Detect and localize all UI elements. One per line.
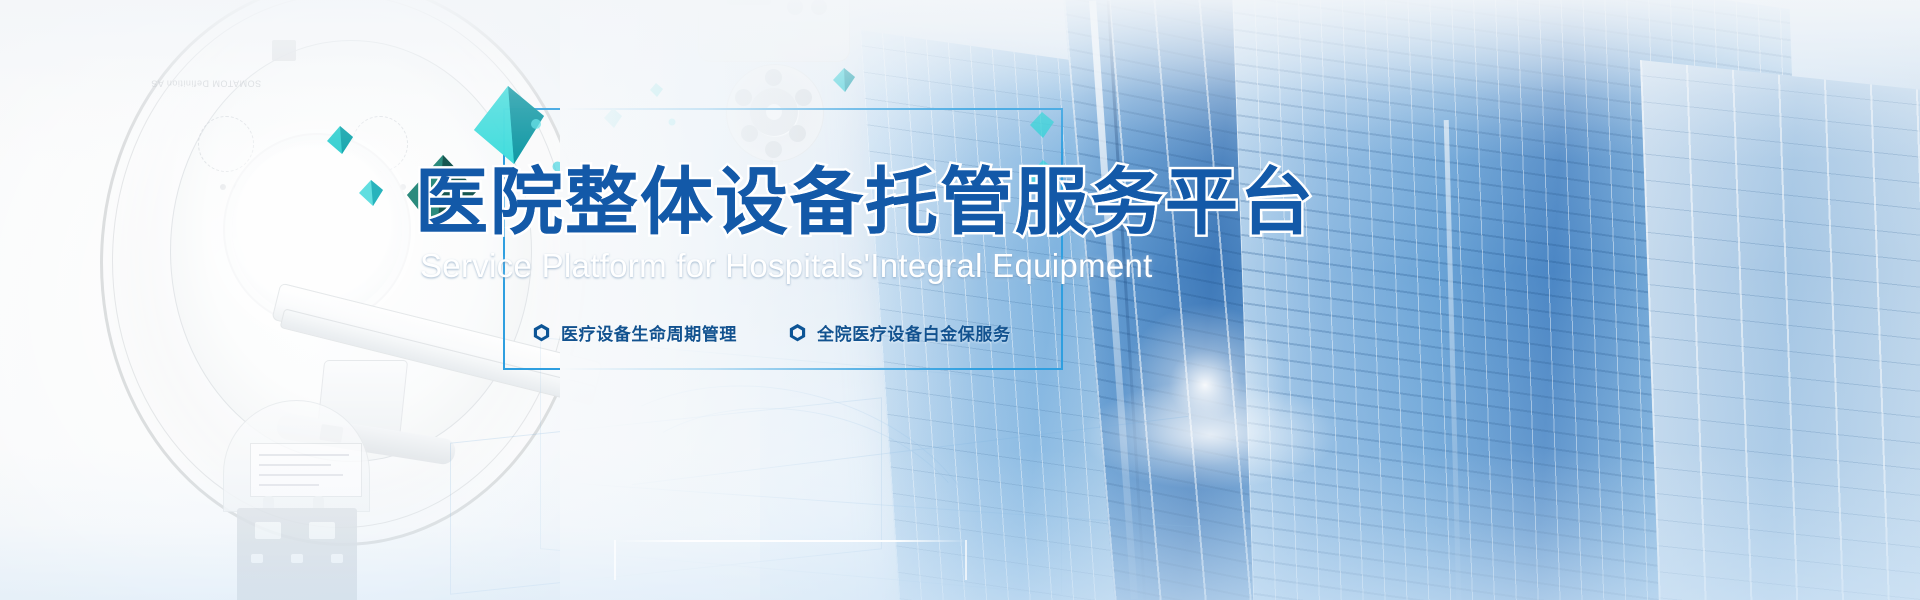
bottom-accent-left-tick — [614, 540, 616, 580]
feature-list: 医疗设备生命周期管理 全院医疗设备白金保服务 — [533, 320, 1011, 345]
hexagon-icon — [789, 323, 806, 342]
feature-item-platinum-service: 全院医疗设备白金保服务 — [789, 320, 1011, 345]
hero-text-block: 医院整体设备托管服务平台 医院整体设备托管服务平台 Service Platfo… — [0, 0, 1920, 600]
bottom-accent-right-tick — [965, 540, 967, 580]
page-title: 医院整体设备托管服务平台 — [415, 166, 1315, 239]
hexagon-icon — [533, 323, 550, 342]
feature-label: 全院医疗设备白金保服务 — [817, 320, 1011, 345]
feature-item-lifecycle: 医疗设备生命周期管理 — [533, 320, 737, 345]
page-subtitle: Service Platform for Hospitals'Integral … — [420, 247, 1153, 285]
feature-label: 医疗设备生命周期管理 — [561, 320, 737, 345]
hero-banner: SOMATOM Definition AS — [0, 0, 1920, 600]
bottom-accent-line — [615, 540, 967, 542]
